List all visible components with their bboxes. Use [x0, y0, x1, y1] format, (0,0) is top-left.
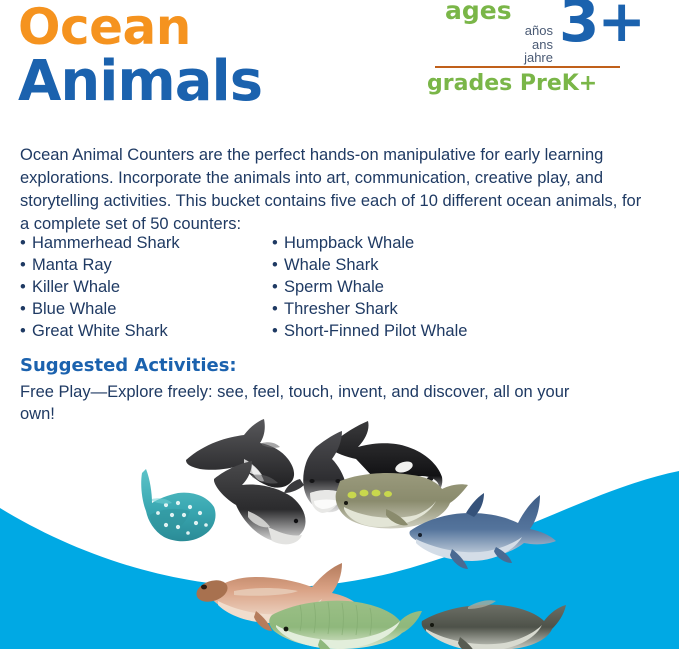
list-item-label: Whale Shark: [284, 256, 378, 274]
bullet-icon: •: [272, 276, 284, 298]
list-item: •Blue Whale: [20, 298, 272, 320]
list-item-label: Hammerhead Shark: [32, 234, 180, 252]
bullet-icon: •: [20, 276, 32, 298]
animal-list-column-right: •Humpback Whale •Whale Shark •Sperm Whal…: [272, 232, 572, 342]
list-item-label: Humpback Whale: [284, 234, 414, 252]
list-item: •Humpback Whale: [272, 232, 572, 254]
list-item: •Great White Shark: [20, 320, 272, 342]
bullet-icon: •: [20, 254, 32, 276]
list-item: •Short-Finned Pilot Whale: [272, 320, 572, 342]
list-item-label: Short-Finned Pilot Whale: [284, 322, 467, 340]
ages-label-spanish: años: [483, 24, 553, 38]
grades-label: grades PreK+: [427, 72, 597, 96]
list-item-label: Thresher Shark: [284, 300, 398, 318]
list-item-label: Blue Whale: [32, 300, 116, 318]
ages-label-german: jahre: [483, 51, 553, 65]
list-item: •Killer Whale: [20, 276, 272, 298]
bullet-icon: •: [20, 298, 32, 320]
animal-list-column-left: •Hammerhead Shark •Manta Ray •Killer Wha…: [20, 232, 272, 342]
title-line-ocean: Ocean: [18, 2, 262, 52]
list-item: •Hammerhead Shark: [20, 232, 272, 254]
ages-label: ages: [445, 0, 512, 23]
list-item-label: Sperm Whale: [284, 278, 384, 296]
list-item: •Manta Ray: [20, 254, 272, 276]
age-row: ages años ans jahre 3+: [423, 2, 633, 68]
title-line-animals: Animals: [18, 54, 262, 110]
product-description-paragraph: Ocean Animal Counters are the perfect ha…: [20, 144, 652, 236]
page-header: Ocean Animals ages años ans jahre 3+ gra…: [0, 0, 679, 120]
list-item-label: Great White Shark: [32, 322, 168, 340]
list-item: •Sperm Whale: [272, 276, 572, 298]
bullet-icon: •: [20, 320, 32, 342]
figure-whale-shark: [141, 469, 215, 541]
badge-divider: [435, 66, 620, 68]
suggested-activities-heading: Suggested Activities:: [20, 355, 237, 377]
bullet-icon: •: [272, 232, 284, 254]
list-item: •Thresher Shark: [272, 298, 572, 320]
page-title: Ocean Animals: [18, 2, 262, 110]
bullet-icon: •: [272, 254, 284, 276]
product-photo: [0, 415, 679, 649]
list-item-label: Killer Whale: [32, 278, 120, 296]
bullet-icon: •: [272, 320, 284, 342]
age-grade-badge: ages años ans jahre 3+ grades PreK+: [423, 2, 633, 102]
list-item: •Whale Shark: [272, 254, 572, 276]
animal-list: •Hammerhead Shark •Manta Ray •Killer Wha…: [20, 232, 660, 342]
list-item-label: Manta Ray: [32, 256, 112, 274]
bullet-icon: •: [20, 232, 32, 254]
age-value: 3+: [559, 0, 644, 50]
ages-label-french: ans: [483, 38, 553, 52]
ages-translations: años ans jahre: [483, 24, 553, 65]
product-description-page: Ocean Animals ages años ans jahre 3+ gra…: [0, 0, 679, 649]
bullet-icon: •: [272, 298, 284, 320]
